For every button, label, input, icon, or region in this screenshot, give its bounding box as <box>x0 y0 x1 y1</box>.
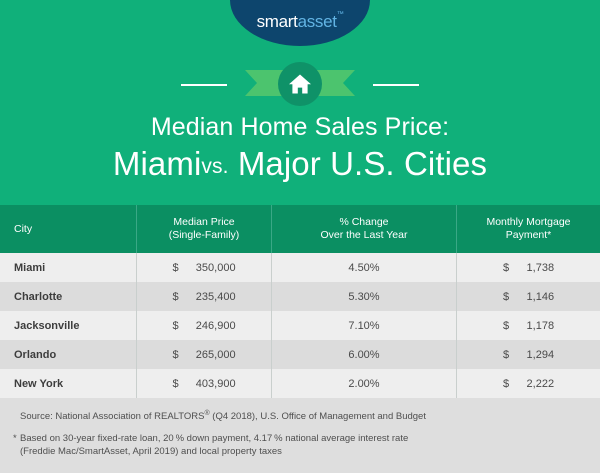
logo-word-smart: smart <box>257 12 298 31</box>
mortgage-value: 1,738 <box>518 262 554 274</box>
cell-median-price: $265,000 <box>136 340 271 369</box>
smartasset-logo[interactable]: smartasset™ <box>230 0 370 46</box>
comparison-table: City Median Price (Single-Family) % Chan… <box>0 205 600 398</box>
price-value: 403,900 <box>188 378 236 390</box>
methodology-note-line-2: (Freddie Mac/SmartAsset, April 2019) and… <box>20 446 282 457</box>
source-prefix: Source: National Association of REALTORS <box>20 411 204 422</box>
cell-monthly-mortgage: $2,222 <box>456 369 600 398</box>
cell-city: Orlando <box>0 340 136 369</box>
cell-percent-change: 2.00% <box>271 369 456 398</box>
money-group: $2,222 <box>503 378 554 390</box>
divider-rule-right-icon <box>373 84 419 86</box>
cell-percent-change: 7.10% <box>271 311 456 340</box>
money-group: $1,738 <box>503 262 554 274</box>
cell-monthly-mortgage: $1,738 <box>456 253 600 282</box>
asterisk-icon: * <box>13 432 17 445</box>
cell-city: Miami <box>0 253 136 282</box>
infographic-root: smartasset™ Median Home Sales Price: Mia… <box>0 0 600 473</box>
title-line-2: Miamivs. Major U.S. Cities <box>0 144 600 189</box>
money-group: $235,400 <box>172 291 235 303</box>
divider-rule-left-icon <box>181 84 227 86</box>
mortgage-value: 1,294 <box>518 349 554 361</box>
footer-notes: Source: National Association of REALTORS… <box>0 398 600 473</box>
house-badge-circle <box>278 62 322 106</box>
column-header-change-line1: % Change <box>339 216 388 229</box>
money-group: $1,294 <box>503 349 554 361</box>
cell-monthly-mortgage: $1,294 <box>456 340 600 369</box>
source-line: Source: National Association of REALTORS… <box>13 407 584 423</box>
column-header-city: City <box>0 205 136 253</box>
mortgage-value: 1,178 <box>518 320 554 332</box>
cell-percent-change: 4.50% <box>271 253 456 282</box>
money-group: $350,000 <box>172 262 235 274</box>
cell-median-price: $350,000 <box>136 253 271 282</box>
methodology-note-line-1: Based on 30-year fixed-rate loan, 20 % d… <box>20 433 408 444</box>
cell-percent-change: 5.30% <box>271 282 456 311</box>
column-header-price-line2: (Single-Family) <box>169 229 240 242</box>
logo-wordmark: smartasset™ <box>257 12 344 32</box>
header-badge <box>0 62 600 108</box>
column-header-mortgage-line1: Monthly Mortgage <box>486 216 570 229</box>
title-comparison: Major U.S. Cities <box>238 145 487 182</box>
logo-trademark-icon: ™ <box>337 11 344 18</box>
cell-percent-change: 6.00% <box>271 340 456 369</box>
methodology-note: * Based on 30-year fixed-rate loan, 20 %… <box>13 432 584 458</box>
source-suffix: (Q4 2018), U.S. Office of Management and… <box>210 411 426 422</box>
table-row: New York $403,900 2.00% $2,222 <box>0 369 600 398</box>
table-row: Charlotte $235,400 5.30% $1,146 <box>0 282 600 311</box>
currency-symbol: $ <box>172 378 178 390</box>
currency-symbol: $ <box>503 262 509 274</box>
price-value: 350,000 <box>188 262 236 274</box>
column-header-change: % Change Over the Last Year <box>271 205 456 253</box>
currency-symbol: $ <box>503 378 509 390</box>
currency-symbol: $ <box>172 320 178 332</box>
cell-monthly-mortgage: $1,178 <box>456 311 600 340</box>
currency-symbol: $ <box>172 262 178 274</box>
cell-city: New York <box>0 369 136 398</box>
column-header-change-line2: Over the Last Year <box>321 229 408 242</box>
price-value: 246,900 <box>188 320 236 332</box>
cell-median-price: $403,900 <box>136 369 271 398</box>
cell-monthly-mortgage: $1,146 <box>456 282 600 311</box>
title-city: Miami <box>113 145 202 182</box>
mortgage-value: 2,222 <box>518 378 554 390</box>
house-icon <box>288 73 312 95</box>
cell-city: Jacksonville <box>0 311 136 340</box>
column-header-price-line1: Median Price <box>173 216 234 229</box>
currency-symbol: $ <box>503 349 509 361</box>
table-row: Jacksonville $246,900 7.10% $1,178 <box>0 311 600 340</box>
title-vs: vs. <box>201 155 228 178</box>
currency-symbol: $ <box>172 291 178 303</box>
money-group: $1,178 <box>503 320 554 332</box>
currency-symbol: $ <box>172 349 178 361</box>
column-header-mortgage: Monthly Mortgage Payment* <box>456 205 600 253</box>
column-header-price: Median Price (Single-Family) <box>136 205 271 253</box>
cell-city: Charlotte <box>0 282 136 311</box>
currency-symbol: $ <box>503 320 509 332</box>
cell-median-price: $246,900 <box>136 311 271 340</box>
page-title: Median Home Sales Price: Miamivs. Major … <box>0 112 600 189</box>
cell-median-price: $235,400 <box>136 282 271 311</box>
title-line-1: Median Home Sales Price: <box>0 112 600 143</box>
money-group: $403,900 <box>172 378 235 390</box>
table-row: Orlando $265,000 6.00% $1,294 <box>0 340 600 369</box>
column-header-mortgage-line2: Payment* <box>506 229 552 242</box>
mortgage-value: 1,146 <box>518 291 554 303</box>
money-group: $1,146 <box>503 291 554 303</box>
column-header-city-label: City <box>14 223 32 236</box>
currency-symbol: $ <box>503 291 509 303</box>
price-value: 265,000 <box>188 349 236 361</box>
money-group: $246,900 <box>172 320 235 332</box>
price-value: 235,400 <box>188 291 236 303</box>
money-group: $265,000 <box>172 349 235 361</box>
logo-word-asset: asset <box>298 12 337 31</box>
table-row: Miami $350,000 4.50% $1,738 <box>0 253 600 282</box>
table-header-row: City Median Price (Single-Family) % Chan… <box>0 205 600 253</box>
